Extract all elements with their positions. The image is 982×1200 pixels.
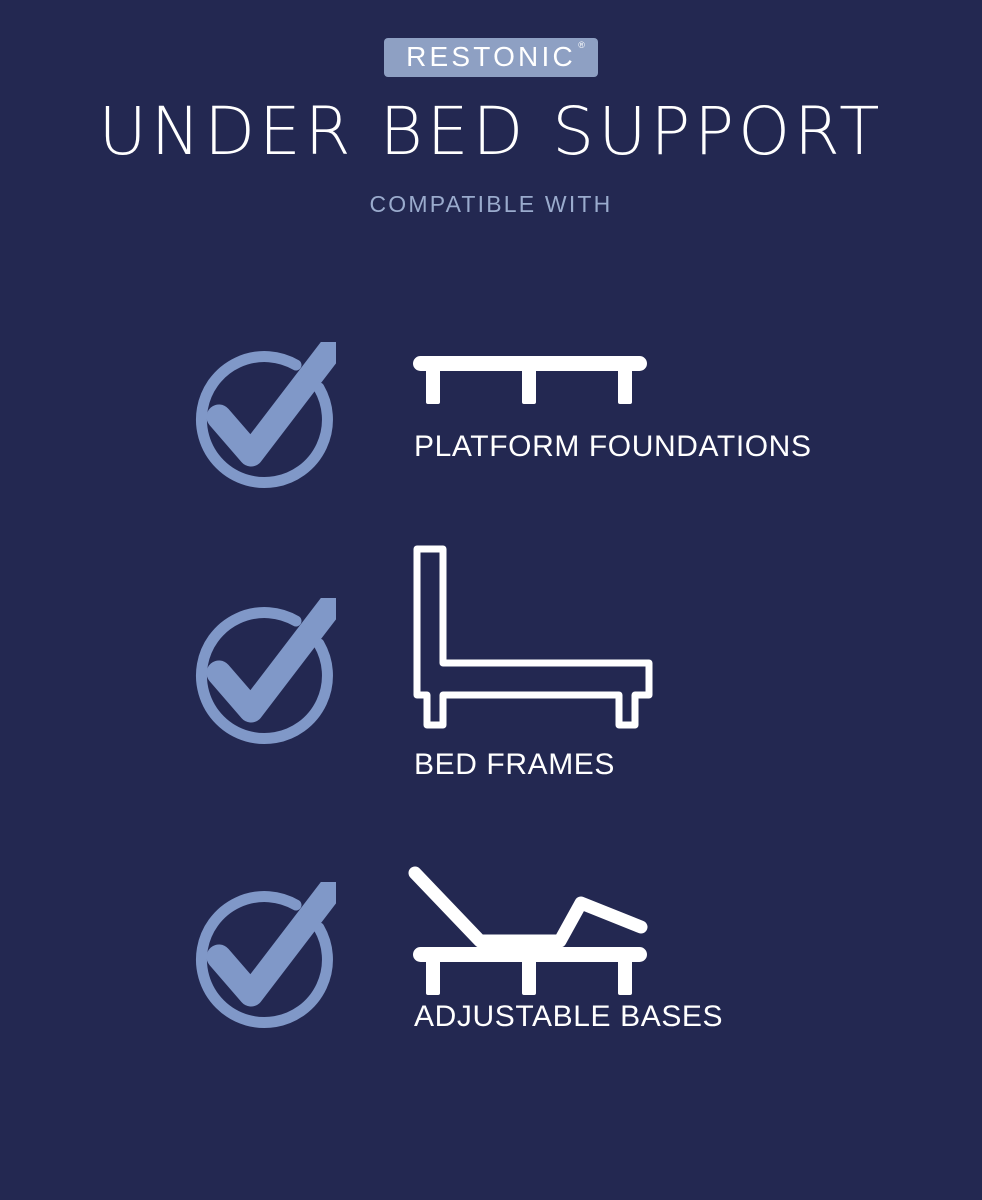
feature-row-adjustable-bases: ADJUSTABLE BASES: [0, 860, 982, 1050]
check-circle-icon: [186, 882, 336, 1032]
feature-label-platform-foundations: PLATFORM FOUNDATIONS: [414, 430, 812, 464]
registered-trademark-icon: ®: [578, 41, 585, 50]
page-title: UNDER BED SUPPORT: [0, 99, 982, 165]
restonic-logo-badge: RESTONIC®: [384, 38, 598, 77]
page-subtitle: COMPATIBLE WITH: [0, 191, 982, 218]
restonic-wordmark: RESTONIC: [406, 41, 576, 72]
platform-foundation-icon: [405, 344, 665, 404]
feature-label-adjustable-bases: ADJUSTABLE BASES: [414, 1000, 723, 1034]
check-circle-icon: [186, 598, 336, 748]
bed-frame-icon: [405, 535, 665, 735]
check-circle-icon: [186, 342, 336, 492]
adjustable-base-icon: [405, 865, 665, 995]
restonic-logo-text: RESTONIC®: [406, 43, 576, 71]
feature-row-platform-foundations: PLATFORM FOUNDATIONS: [0, 330, 982, 520]
feature-row-bed-frames: BED FRAMES: [0, 530, 982, 720]
feature-label-bed-frames: BED FRAMES: [414, 748, 615, 782]
header: RESTONIC® UNDER BED SUPPORT COMPATIBLE W…: [0, 0, 982, 218]
infographic-page: RESTONIC® UNDER BED SUPPORT COMPATIBLE W…: [0, 0, 982, 1200]
